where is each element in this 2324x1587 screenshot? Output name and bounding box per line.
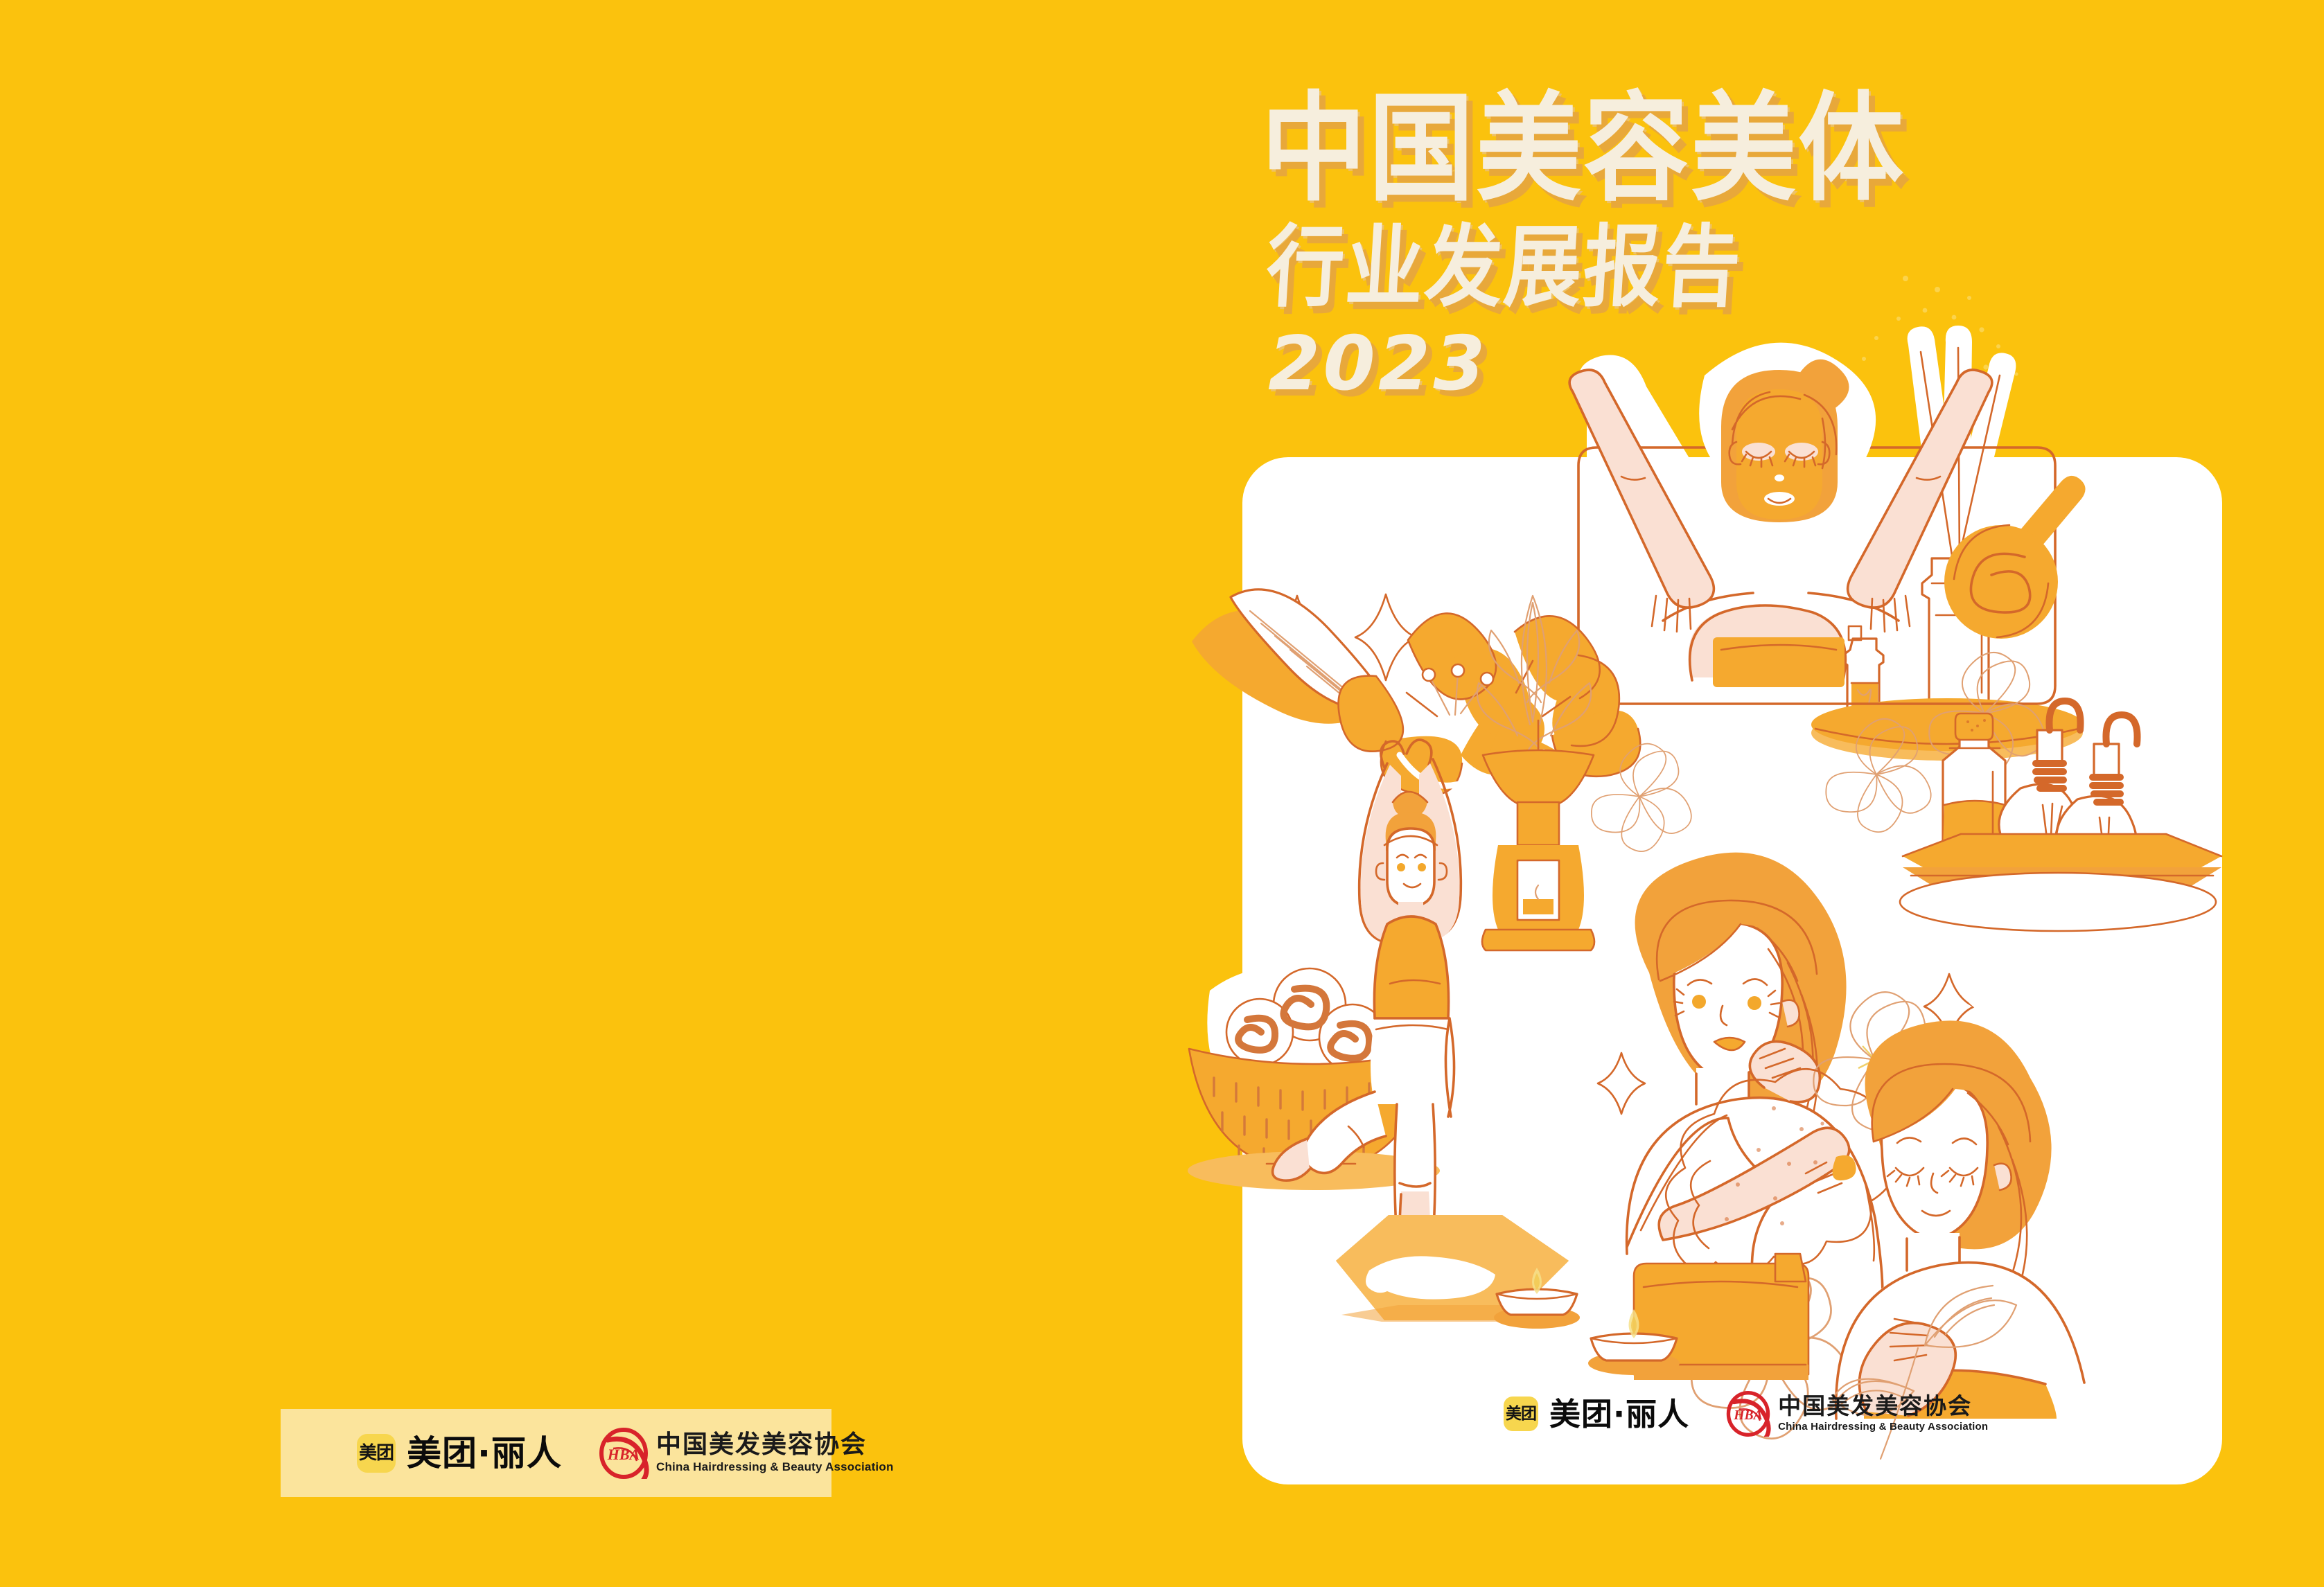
meituan-badge-icon: 美团 bbox=[357, 1434, 396, 1473]
svg-text:HBA: HBA bbox=[607, 1446, 640, 1463]
meituan-badge-icon: 美团 bbox=[1504, 1397, 1538, 1431]
meituan-wordmark: 美团·丽人 bbox=[407, 1436, 562, 1471]
chba-logo-left: HBA 中国美发美容协会 China Hairdressing & Beauty… bbox=[598, 1428, 894, 1479]
title-line-1: 中国美容美体 bbox=[1261, 90, 2037, 208]
chba-emblem-icon: HBA bbox=[598, 1428, 649, 1479]
chba-name-en: China Hairdressing & Beauty Association bbox=[1778, 1421, 1988, 1433]
illustration-card bbox=[1242, 457, 2222, 1484]
meituan-wordmark: 美团·丽人 bbox=[1549, 1399, 1689, 1430]
poster-background: 中国美容美体 行业发展报告 2023 .ln{fill:none;stroke:… bbox=[0, 0, 2324, 1587]
title-year: 2023 bbox=[1268, 327, 2037, 402]
poster-title-block: 中国美容美体 行业发展报告 2023 bbox=[1261, 90, 2037, 402]
chba-logo-right: HBA 中国美发美容协会 China Hairdressing & Beauty… bbox=[1725, 1391, 1988, 1437]
chba-name-cn: 中国美发美容协会 bbox=[656, 1432, 894, 1458]
footer-logo-bar-right: 美团 美团·丽人 HBA 中国美发美容协会 China Hairdressing… bbox=[1504, 1391, 1988, 1437]
chba-name-en: China Hairdressing & Beauty Association bbox=[656, 1461, 894, 1474]
meituan-logo-right: 美团 美团·丽人 bbox=[1504, 1397, 1689, 1431]
meituan-logo-left: 美团 美团·丽人 bbox=[357, 1434, 562, 1473]
svg-text:HBA: HBA bbox=[1733, 1408, 1762, 1423]
chba-name-cn: 中国美发美容协会 bbox=[1778, 1394, 1988, 1419]
footer-logo-bar-left: 美团 美团·丽人 HBA 中国美发美容协会 China Hairdressing… bbox=[281, 1409, 831, 1497]
title-line-2: 行业发展报告 bbox=[1264, 223, 2037, 312]
chba-emblem-icon: HBA bbox=[1725, 1391, 1771, 1437]
